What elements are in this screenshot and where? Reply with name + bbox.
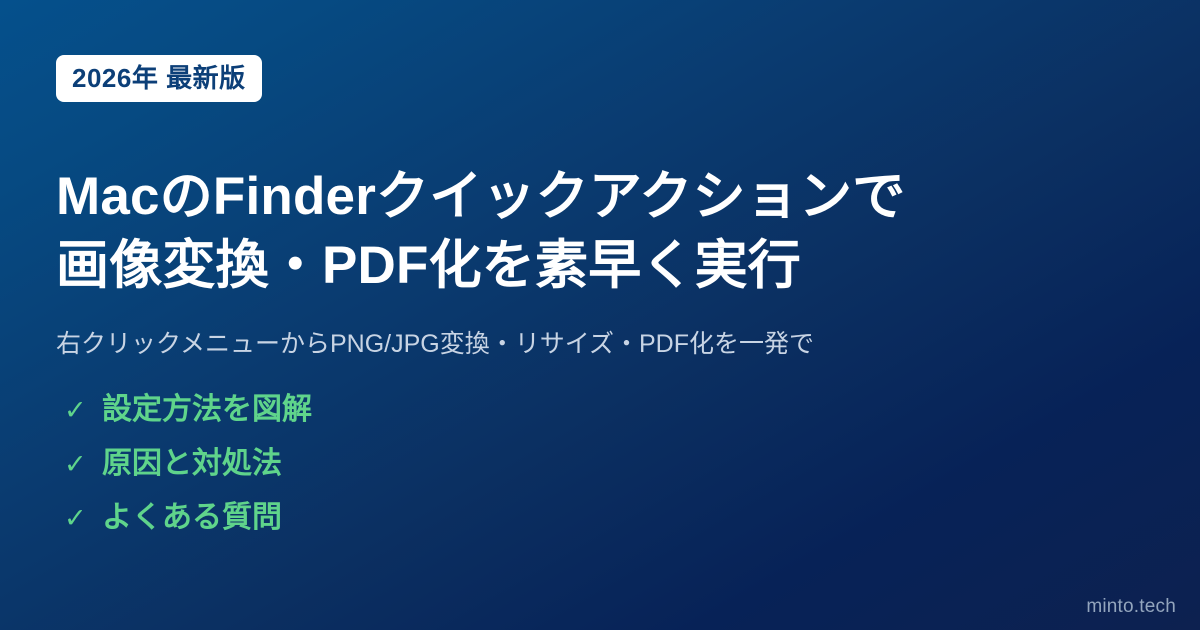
- feature-checklist: ✓ 設定方法を図解 ✓ 原因と対処法 ✓ よくある質問: [64, 383, 312, 545]
- list-item: ✓ よくある質問: [64, 491, 312, 545]
- card-content: 2026年 最新版 MacのFinderクイックアクションで 画像変換・PDF化…: [56, 0, 1146, 630]
- check-item-label: よくある質問: [102, 503, 282, 533]
- page-title-line-1: MacのFinderクイックアクションで: [56, 162, 1076, 232]
- check-icon: ✓: [64, 505, 102, 532]
- check-item-label: 原因と対処法: [102, 449, 282, 479]
- site-watermark: minto.tech: [1086, 597, 1176, 616]
- check-item-label: 設定方法を図解: [102, 395, 312, 425]
- page-subtitle: 右クリックメニューからPNG/JPG変換・リサイズ・PDF化を一発で: [56, 327, 814, 362]
- page-title: MacのFinderクイックアクションで 画像変換・PDF化を素早く実行: [56, 162, 1076, 302]
- year-badge: 2026年 最新版: [56, 55, 262, 102]
- badge-row: 2026年 最新版: [56, 55, 262, 102]
- og-card: 2026年 最新版 MacのFinderクイックアクションで 画像変換・PDF化…: [0, 0, 1200, 630]
- list-item: ✓ 原因と対処法: [64, 437, 312, 491]
- page-title-line-2: 画像変換・PDF化を素早く実行: [56, 231, 1076, 301]
- check-icon: ✓: [64, 451, 102, 478]
- list-item: ✓ 設定方法を図解: [64, 383, 312, 437]
- check-icon: ✓: [64, 397, 102, 424]
